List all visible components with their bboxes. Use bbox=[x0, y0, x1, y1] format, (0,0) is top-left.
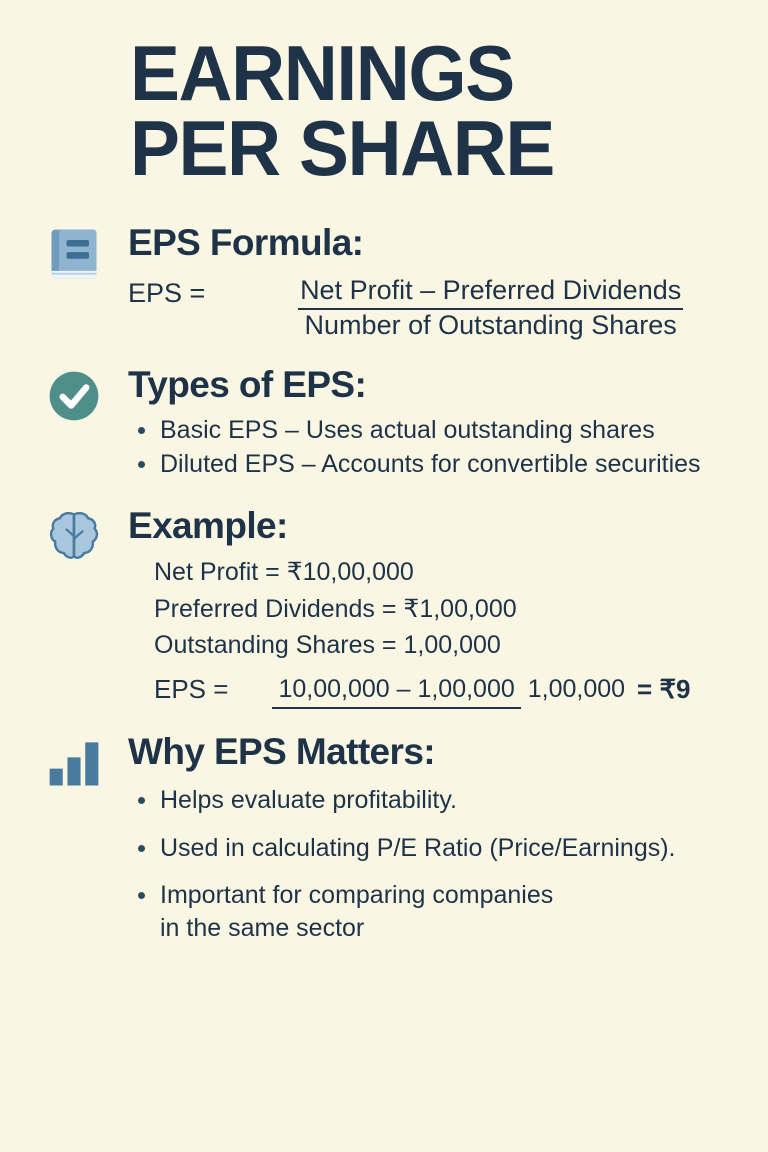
section-heading-types: Types of EPS: bbox=[128, 364, 768, 405]
example-line: Outstanding Shares = 1,00,000 bbox=[154, 627, 768, 664]
example-line: Net Profit = ₹10,00,000 bbox=[154, 554, 768, 591]
section-eps-formula: EPS Formula: EPS = Net Profit – Preferre… bbox=[0, 222, 768, 343]
section-why-eps-matters: Why EPS Matters: Helps evaluate profitab… bbox=[0, 731, 768, 944]
section-heading-why: Why EPS Matters: bbox=[128, 731, 768, 772]
check-circle-icon bbox=[44, 366, 104, 426]
title-line-1: EARNINGS bbox=[130, 36, 742, 111]
section-heading-example: Example: bbox=[128, 505, 768, 546]
why-bullet-list: Helps evaluate profitability. Used in ca… bbox=[132, 784, 768, 944]
title-line-2: PER SHARE bbox=[130, 111, 742, 186]
example-denominator: 1,00,000 bbox=[528, 671, 625, 703]
example-calc-lhs: EPS = bbox=[154, 674, 228, 705]
example-fraction: 10,00,000 – 1,00,000 1,00,000 bbox=[272, 675, 625, 704]
example-result: = ₹9 bbox=[637, 674, 690, 705]
eps-formula: EPS = Net Profit – Preferred Dividends N… bbox=[128, 273, 768, 342]
formula-fraction: Net Profit – Preferred Dividends Number … bbox=[213, 273, 768, 342]
formula-numerator: Net Profit – Preferred Dividends bbox=[298, 275, 683, 310]
brain-icon bbox=[44, 507, 104, 567]
types-bullet-list: Basic EPS – Uses actual outstanding shar… bbox=[132, 414, 768, 481]
example-calculation: EPS = 10,00,000 – 1,00,000 1,00,000 = ₹9 bbox=[154, 674, 768, 705]
list-item: Important for comparing companies in the… bbox=[132, 879, 768, 944]
formula-denominator: Number of Outstanding Shares bbox=[305, 306, 677, 340]
list-item: Basic EPS – Uses actual outstanding shar… bbox=[132, 414, 768, 447]
section-types-of-eps: Types of EPS: Basic EPS – Uses actual ou… bbox=[0, 364, 768, 480]
list-item: Helps evaluate profitability. bbox=[132, 784, 768, 817]
example-line: Preferred Dividends = ₹1,00,000 bbox=[154, 591, 768, 628]
list-item: Diluted EPS – Accounts for convertible s… bbox=[132, 448, 768, 481]
section-example: Example: Net Profit = ₹10,00,000 Preferr… bbox=[0, 505, 768, 705]
formula-lhs: EPS = bbox=[128, 273, 205, 311]
example-values: Net Profit = ₹10,00,000 Preferred Divide… bbox=[154, 554, 768, 664]
list-item: Used in calculating P/E Ratio (Price/Ear… bbox=[132, 832, 768, 865]
example-numerator: 10,00,000 – 1,00,000 bbox=[272, 675, 520, 709]
book-icon bbox=[44, 224, 104, 284]
bar-chart-icon bbox=[44, 733, 104, 793]
section-heading-formula: EPS Formula: bbox=[128, 222, 768, 263]
page-title: EARNINGS PER SHARE bbox=[0, 0, 768, 186]
